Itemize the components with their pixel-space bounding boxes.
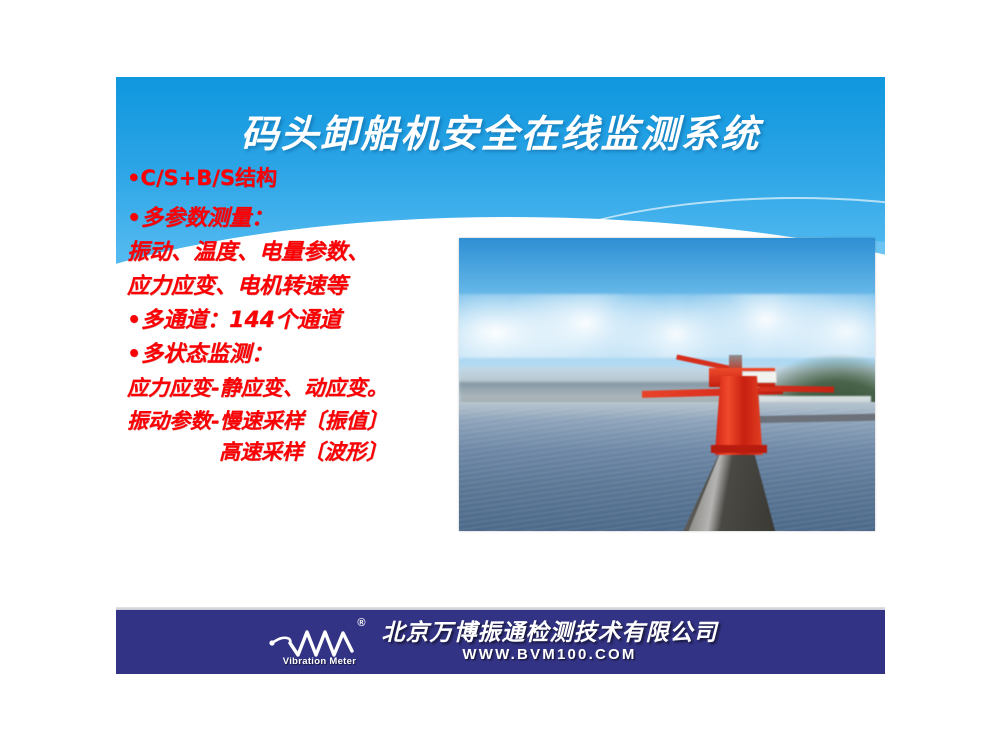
footer-content: ® Vibration Meter 北京万博振通检测技术有限公司 WWW.BVM… [268,617,718,667]
bullet-item-multi-state: •多状态监测： [127,344,477,366]
bullet-list: •C/S+B/S结构 •多参数测量： 振动、温度、电量参数、 应力应变、电机转速… [127,168,477,463]
slide-title: 码头卸船机安全在线监测系统 [116,103,885,158]
company-website: WWW.BVM100.COM [462,646,636,663]
ship-unloader-photo [459,238,875,531]
photo-soft-focus-overlay [459,238,875,531]
vibration-meter-logo: ® Vibration Meter [268,617,372,667]
bullet-detail-vibration-fast: 高速采样〔波形〕 [219,442,477,463]
slide-canvas: 码头卸船机安全在线监测系统 •C/S+B/S结构 •多参数测量： 振动、温度、电… [0,0,1000,750]
footer-company-block: 北京万博振通检测技术有限公司 WWW.BVM100.COM [382,621,718,663]
bullet-item-architecture: •C/S+B/S结构 [127,168,477,189]
bullet-detail-vibration-slow: 振动参数-慢速采样〔振值〕 [127,411,477,432]
bullet-item-channels: •多通道：144个通道 [127,310,477,332]
bullet-detail-strain: 应力应变-静应变、动应变。 [127,378,477,399]
bullet-detail-parameters-1: 振动、温度、电量参数、 [127,242,477,264]
company-name-cn: 北京万博振通检测技术有限公司 [382,621,718,645]
logo-subtitle: Vibration Meter [272,656,368,667]
bullet-detail-parameters-2: 应力应变、电机转速等 [127,276,477,298]
footer-bar: ® Vibration Meter 北京万博振通检测技术有限公司 WWW.BVM… [116,610,885,674]
slide-body: 码头卸船机安全在线监测系统 •C/S+B/S结构 •多参数测量： 振动、温度、电… [116,77,885,609]
bullet-item-multi-parameter: •多参数测量： [127,208,477,230]
registered-trademark-icon: ® [357,617,365,629]
